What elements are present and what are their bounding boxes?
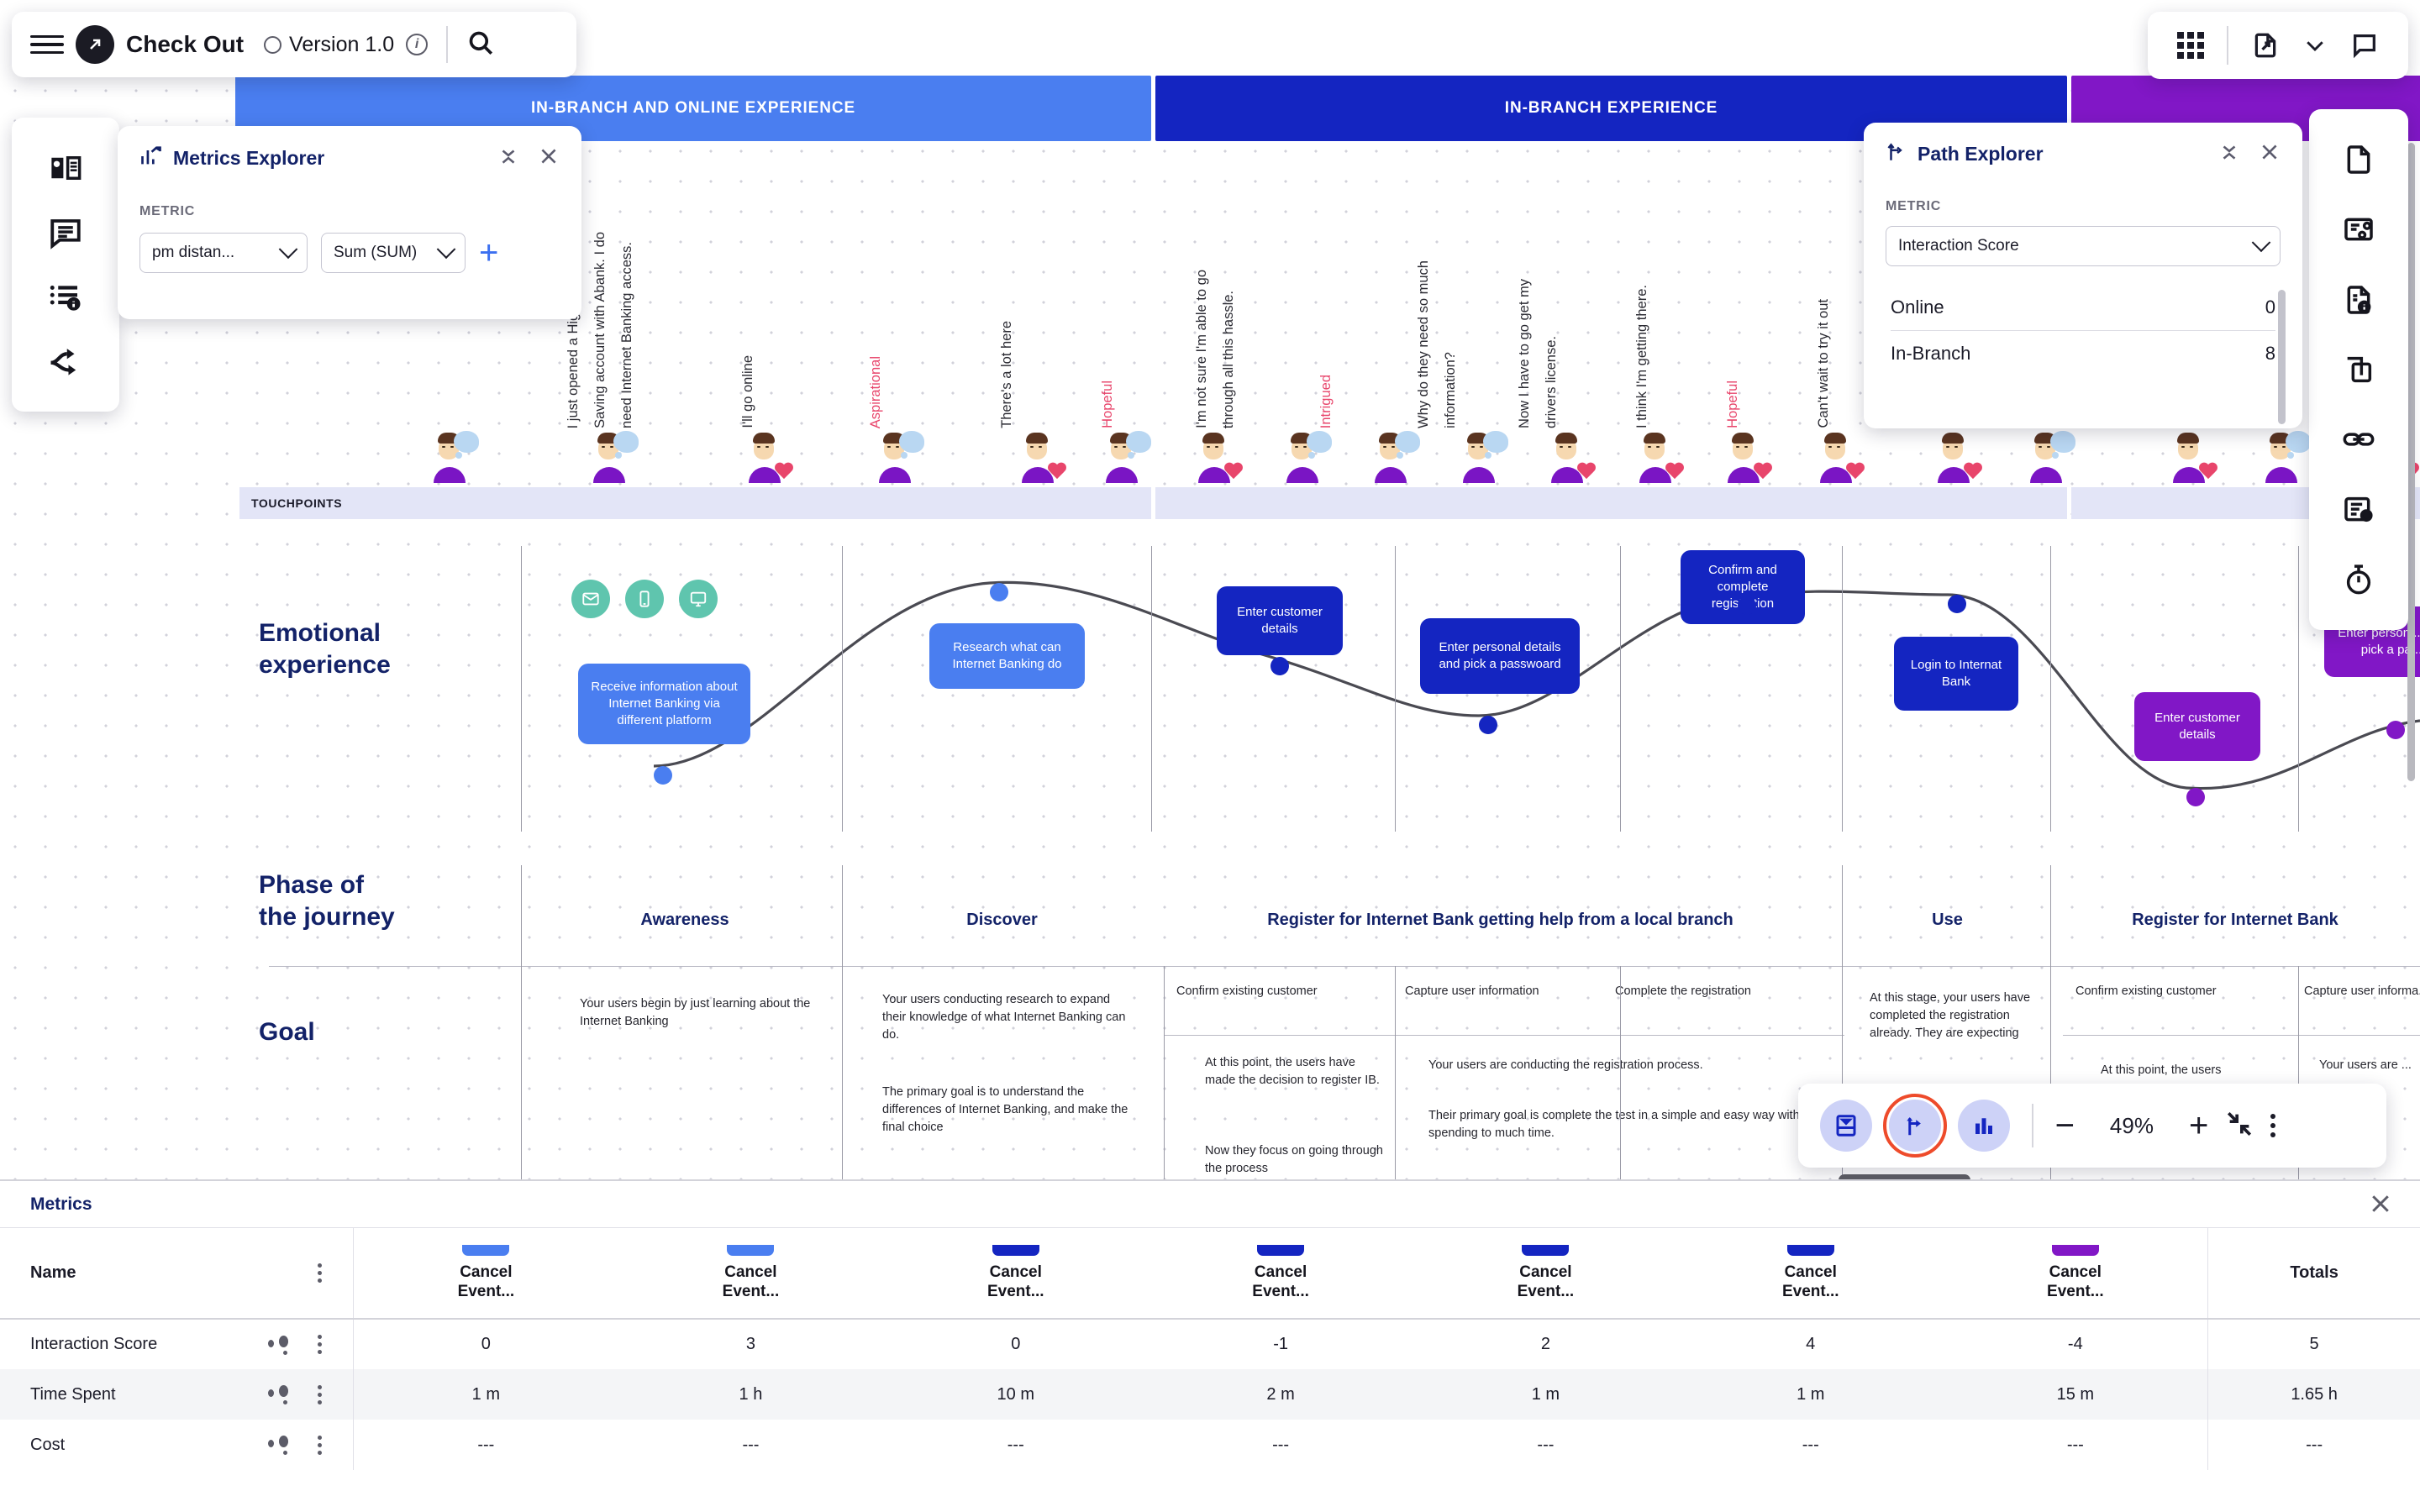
avatar-eye bbox=[2047, 446, 2050, 448]
heart-icon bbox=[1047, 463, 1067, 481]
persona-quote: Hopeful bbox=[1099, 381, 1133, 428]
table-row[interactable]: Time Spent1 m1 h10 m2 m1 m1 m15 m1.65 h bbox=[0, 1369, 2420, 1420]
right-toolbar bbox=[2309, 109, 2408, 630]
subphase-title[interactable]: Complete the registration bbox=[1615, 983, 1842, 1000]
persona-quote: I'll go online bbox=[739, 355, 773, 428]
table-row[interactable]: Cost------------------------ bbox=[0, 1420, 2420, 1470]
hamburger-icon[interactable] bbox=[30, 32, 64, 57]
persona-quote-text: Aspirational bbox=[867, 356, 885, 428]
persona-quote: information? bbox=[1442, 352, 1476, 428]
metric-value-cell[interactable]: 1 m bbox=[353, 1369, 618, 1420]
more-vertical-icon[interactable] bbox=[311, 1385, 329, 1404]
metric-total-cell: 5 bbox=[2208, 1319, 2420, 1369]
thought-bubble-icon bbox=[613, 431, 639, 453]
metric-value-cell[interactable]: --- bbox=[618, 1420, 883, 1470]
path-explorer-scrollbar[interactable] bbox=[2278, 290, 2286, 424]
touchpoints-label: TOUCHPOINTS bbox=[239, 487, 342, 519]
more-vertical-icon[interactable] bbox=[311, 1436, 329, 1455]
persona-quote-text: information? bbox=[1442, 352, 1460, 428]
persona-avatar bbox=[1193, 431, 1242, 483]
avatar-hair bbox=[2177, 433, 2199, 444]
avatar-hair bbox=[753, 433, 775, 444]
persona-quote-text: Can't wait to try it out bbox=[1815, 299, 1833, 428]
persona-avatar bbox=[429, 431, 477, 483]
thought-bubble-icon bbox=[454, 431, 479, 453]
metric-name-cell[interactable]: Cost bbox=[0, 1420, 353, 1470]
avatar-eye bbox=[1648, 446, 1651, 448]
heart-icon bbox=[1753, 463, 1773, 481]
event-color-cap bbox=[727, 1245, 774, 1256]
column-header-event[interactable]: CancelEvent... bbox=[1678, 1228, 1943, 1319]
metrics-explorer-header: Metrics Explorer bbox=[139, 144, 560, 172]
grid-divider bbox=[2050, 546, 2051, 832]
column-header-label: CancelEvent... bbox=[618, 1263, 883, 1301]
persona-quote-text: Hopeful bbox=[1099, 381, 1117, 428]
avatar-body bbox=[593, 467, 625, 483]
persona-avatar bbox=[2168, 431, 2217, 483]
zoom-out-button[interactable]: − bbox=[2055, 1111, 2075, 1140]
list-item[interactable]: In-Branch 8 bbox=[1886, 331, 2281, 376]
persona-quote-text: through all this hassle. bbox=[1220, 291, 1238, 428]
comment-lines-icon[interactable] bbox=[46, 213, 85, 252]
grid-divider bbox=[521, 865, 522, 1193]
copy-pages-icon[interactable] bbox=[2339, 350, 2378, 389]
avatar-eye bbox=[1303, 446, 1307, 448]
avatar-hair bbox=[1026, 433, 1048, 444]
subphase-divider bbox=[2063, 1035, 2420, 1036]
persona-avatar bbox=[2260, 431, 2309, 483]
path-branch-icon[interactable] bbox=[46, 342, 85, 381]
canvas-view-toolbar: − 49% + bbox=[1798, 1084, 2386, 1168]
heart-icon bbox=[774, 463, 794, 481]
goal-text[interactable]: Your users begin by just learning about … bbox=[580, 995, 823, 1031]
avatar-hair bbox=[1942, 433, 1964, 444]
touchpoints-strip-0 bbox=[239, 487, 1151, 519]
table-header-row: Name CancelEvent...CancelEvent...CancelE… bbox=[0, 1228, 2420, 1319]
emotion-step-box[interactable]: Research what can Internet Banking do bbox=[929, 623, 1085, 689]
persona-quote: There's a lot here bbox=[998, 321, 1032, 428]
emotion-curve-node[interactable] bbox=[990, 583, 1008, 601]
avatar-hair bbox=[1824, 433, 1846, 444]
metric-value-cell[interactable]: --- bbox=[1148, 1420, 1413, 1470]
path-explorer-list: Online 0 In-Branch 8 bbox=[1886, 285, 2281, 376]
avatar-eye bbox=[887, 446, 891, 448]
avatar-body bbox=[879, 467, 911, 483]
metric-name: Interaction Score bbox=[30, 1335, 157, 1354]
avatar-eye bbox=[1383, 446, 1386, 448]
chevron-down-icon[interactable] bbox=[2302, 33, 2328, 58]
phase-title[interactable]: Awareness bbox=[525, 909, 844, 931]
persona-quote-text: There's a lot here bbox=[998, 321, 1016, 428]
avatar-eye bbox=[2181, 446, 2185, 448]
metrics-bar-icon[interactable] bbox=[1958, 1100, 2010, 1152]
avatar-eye bbox=[2039, 446, 2042, 448]
chevron-down-icon bbox=[2252, 233, 2271, 252]
phase-title[interactable]: Register for Internet Bank bbox=[2054, 909, 2416, 931]
top-toolbar: Check Out Version 1.0 i bbox=[12, 12, 576, 77]
grid-divider bbox=[1842, 546, 1843, 832]
metric-value-cell[interactable]: 4 bbox=[1678, 1319, 1943, 1369]
metric-value-cell[interactable]: -4 bbox=[1943, 1319, 2207, 1369]
emotion-step-box[interactable]: Enter personal details and pick a passwo… bbox=[1420, 618, 1580, 694]
persona-quote-text: Intrigued bbox=[1318, 375, 1335, 428]
thought-bubble-icon bbox=[1307, 431, 1332, 453]
thought-bubble-icon bbox=[1483, 431, 1508, 453]
emotion-step-box[interactable]: Enter customer details bbox=[1217, 586, 1343, 655]
persona-avatar bbox=[1101, 431, 1149, 483]
goal-text[interactable]: Now they focus on going through the proc… bbox=[1205, 1142, 1386, 1178]
avatar-eye bbox=[1207, 446, 1210, 448]
lane-view-icon[interactable] bbox=[1820, 1100, 1872, 1152]
vertical-scrollbar[interactable] bbox=[2407, 143, 2415, 781]
version-selector[interactable]: Version 1.0 bbox=[264, 33, 394, 57]
persona-avatar bbox=[1546, 431, 1595, 483]
metrics-table[interactable]: Name CancelEvent...CancelEvent...CancelE… bbox=[0, 1228, 2420, 1470]
emotion-curve bbox=[0, 529, 2420, 832]
avatar-eye bbox=[1030, 446, 1034, 448]
metric-value-cell[interactable]: --- bbox=[1678, 1420, 1943, 1470]
subphase-title[interactable]: Confirm existing customer bbox=[1176, 983, 1403, 1000]
persona-quote: through all this hassle. bbox=[1220, 291, 1254, 428]
column-header-label: CancelEvent... bbox=[354, 1263, 618, 1301]
metric-value-cell[interactable]: --- bbox=[1413, 1420, 1678, 1470]
subphase-divider bbox=[1164, 1035, 1844, 1036]
stopwatch-icon[interactable] bbox=[2339, 560, 2378, 599]
table-body: Interaction Score030-124-45Time Spent1 m… bbox=[0, 1319, 2420, 1470]
link-icon[interactable] bbox=[2339, 420, 2378, 459]
avatar-eye bbox=[1828, 446, 1832, 448]
thought-bubble-icon bbox=[899, 431, 924, 453]
metrics-table-header: Metrics bbox=[0, 1181, 2420, 1228]
goal-text[interactable]: At this stage, your users have completed… bbox=[1870, 990, 2033, 1042]
avatar-eye bbox=[1946, 446, 1949, 448]
touchpoints-strip-1 bbox=[1155, 487, 2067, 519]
close-icon[interactable] bbox=[538, 145, 560, 171]
metric-value-cell[interactable]: 10 m bbox=[883, 1369, 1148, 1420]
emotion-curve-node[interactable] bbox=[1948, 595, 1966, 613]
persona-avatar bbox=[2025, 431, 2074, 483]
goal-text[interactable]: Your users are ... bbox=[2319, 1057, 2420, 1074]
persona-avatar bbox=[1281, 431, 1330, 483]
grid-divider bbox=[521, 546, 522, 832]
grid-divider bbox=[1395, 966, 1396, 1193]
path-explorer-panel[interactable]: Path Explorer METRIC Interaction Score O… bbox=[1864, 123, 2302, 428]
avatar-eye bbox=[1568, 446, 1571, 448]
page-icon[interactable] bbox=[2339, 140, 2378, 179]
avatar-eye bbox=[610, 446, 613, 448]
grid-divider bbox=[1164, 966, 1165, 1193]
avatar-eye bbox=[1560, 446, 1563, 448]
event-color-cap bbox=[462, 1245, 509, 1256]
metric-value-cell[interactable]: --- bbox=[883, 1420, 1148, 1470]
persona-quote-text: Now I have to go get my bbox=[1516, 279, 1534, 428]
column-header-event[interactable]: CancelEvent... bbox=[1413, 1228, 1678, 1319]
avatar-eye bbox=[896, 446, 899, 448]
subphase-title[interactable]: Capture user information bbox=[1405, 983, 1613, 1000]
persona-quote: I think I'm getting there. bbox=[1633, 285, 1667, 428]
list-item[interactable]: Online 0 bbox=[1886, 285, 2281, 330]
chevron-down-icon bbox=[279, 239, 298, 259]
emotion-curve-node[interactable] bbox=[1479, 716, 1497, 734]
version-label: Version 1.0 bbox=[289, 33, 394, 57]
avatar-hair bbox=[1732, 433, 1754, 444]
path-metric-select[interactable]: Interaction Score bbox=[1886, 226, 2281, 266]
emotion-curve-node[interactable] bbox=[2386, 721, 2405, 739]
phase-title[interactable]: Use bbox=[1844, 909, 2050, 931]
goal-text[interactable]: At this point, the users have made the d… bbox=[1205, 1054, 1386, 1089]
emotion-curve-node[interactable] bbox=[2186, 788, 2205, 806]
thought-bubble-icon bbox=[1395, 431, 1420, 453]
avatar-eye bbox=[1736, 446, 1739, 448]
avatar-eye bbox=[1471, 446, 1475, 448]
event-color-cap bbox=[1257, 1245, 1304, 1256]
avatar-eye bbox=[1480, 446, 1483, 448]
more-vertical-icon[interactable] bbox=[2270, 1114, 2275, 1137]
fit-to-screen-icon[interactable] bbox=[2225, 1110, 2254, 1142]
collapse-icon[interactable] bbox=[497, 145, 519, 171]
app-logo-icon[interactable] bbox=[76, 25, 114, 64]
grid-apps-icon[interactable] bbox=[2177, 32, 2204, 59]
goal-text[interactable]: Your users are conducting the registrati… bbox=[1428, 1057, 1823, 1074]
metric-total-cell: --- bbox=[2208, 1420, 2420, 1470]
comment-icon[interactable] bbox=[2350, 31, 2379, 60]
goal-text[interactable]: At this point, the users bbox=[2101, 1062, 2286, 1079]
export-document-icon[interactable] bbox=[2251, 31, 2280, 60]
emotion-curve-node[interactable] bbox=[1270, 657, 1289, 675]
grid-divider bbox=[1620, 546, 1621, 832]
metric-section-label: METRIC bbox=[139, 204, 560, 219]
heart-icon bbox=[1665, 463, 1685, 481]
metric-value-cell[interactable]: 1 h bbox=[618, 1369, 883, 1420]
persona-avatar bbox=[1723, 431, 1771, 483]
column-header-totals[interactable]: Totals bbox=[2208, 1228, 2420, 1319]
column-header-event[interactable]: CancelEvent... bbox=[1148, 1228, 1413, 1319]
avatar-eye bbox=[2190, 446, 2193, 448]
path-branch-icon bbox=[1886, 141, 1907, 167]
close-icon[interactable] bbox=[2368, 1191, 2393, 1221]
metrics-table-title: Metrics bbox=[30, 1194, 92, 1215]
emotion-step-box[interactable]: Receive information about Internet Banki… bbox=[578, 664, 750, 744]
persona-quote-text: Saving account with Abank. I do bbox=[592, 232, 609, 428]
persona-quote-text: Hopeful bbox=[1724, 381, 1742, 428]
close-icon[interactable] bbox=[2259, 141, 2281, 167]
document-info-icon[interactable] bbox=[2339, 281, 2378, 319]
subphase-title[interactable]: Confirm existing customer bbox=[2075, 983, 2302, 1000]
toolbar-divider bbox=[2227, 26, 2228, 65]
persona-avatar bbox=[744, 431, 792, 483]
metric-value-cell[interactable]: --- bbox=[1943, 1420, 2207, 1470]
avatar-eye bbox=[1391, 446, 1395, 448]
avatar-body bbox=[1463, 467, 1495, 483]
collapse-icon[interactable] bbox=[2218, 141, 2240, 167]
heart-icon bbox=[1576, 463, 1597, 481]
metric-name: Time Spent bbox=[30, 1385, 116, 1404]
metric-total-cell: 1.65 h bbox=[2208, 1369, 2420, 1420]
subphase-title[interactable]: Capture user informa... bbox=[2304, 983, 2420, 1000]
toolbar-divider bbox=[446, 26, 448, 63]
emotion-curve-node[interactable] bbox=[654, 766, 672, 785]
avatar-eye bbox=[2274, 446, 2277, 448]
persona-quote-text: I think I'm getting there. bbox=[1633, 285, 1651, 428]
metric-value-cell[interactable]: 1 m bbox=[1678, 1369, 1943, 1420]
footprints-icon[interactable] bbox=[267, 1335, 289, 1355]
grid-divider bbox=[842, 546, 843, 832]
zoom-in-button[interactable]: + bbox=[2189, 1111, 2208, 1140]
column-header-event[interactable]: CancelEvent... bbox=[883, 1228, 1148, 1319]
journey-map-icon[interactable] bbox=[2339, 210, 2378, 249]
persona-quote: drivers license. bbox=[1543, 336, 1576, 428]
footprints-icon[interactable] bbox=[267, 1435, 289, 1455]
metrics-table-panel: Metrics Name CancelEvent...CancelEvent..… bbox=[0, 1179, 2420, 1512]
goal-text[interactable]: Your users conducting research to expand… bbox=[882, 991, 1126, 1044]
persona-avatar bbox=[1458, 431, 1507, 483]
metric-name-cell[interactable]: Interaction Score bbox=[0, 1319, 353, 1369]
persona-avatar bbox=[588, 431, 637, 483]
persona-avatar bbox=[874, 431, 923, 483]
grid-divider bbox=[1620, 966, 1621, 1193]
document-title[interactable]: Check Out bbox=[126, 31, 244, 58]
avatar-hair bbox=[1202, 433, 1224, 444]
column-header-event[interactable]: CancelEvent... bbox=[1943, 1228, 2207, 1319]
persona-quote: Can't wait to try it out bbox=[1815, 299, 1849, 428]
column-header-label: CancelEvent... bbox=[1678, 1263, 1943, 1301]
emotion-step-box[interactable]: Login to Internat Bank bbox=[1894, 637, 2018, 711]
column-header-event[interactable]: CancelEvent... bbox=[618, 1228, 883, 1319]
avatar-eye bbox=[1039, 446, 1042, 448]
emotion-step-box[interactable]: Enter customer details bbox=[2134, 692, 2260, 761]
metric-select[interactable]: pm distan... bbox=[139, 233, 308, 273]
top-right-toolbar bbox=[2148, 12, 2408, 79]
metric-name: Cost bbox=[30, 1436, 65, 1455]
avatar-eye bbox=[1123, 446, 1126, 448]
persona-book-icon[interactable] bbox=[46, 149, 85, 187]
heart-icon bbox=[1845, 463, 1865, 481]
persona-quote-text: need Internet Banking access. bbox=[618, 242, 636, 428]
phase-label: Phase of the journey bbox=[259, 869, 494, 933]
metric-value-cell[interactable]: 2 m bbox=[1148, 1369, 1413, 1420]
avatar-eye bbox=[2282, 446, 2286, 448]
event-color-cap bbox=[1787, 1245, 1834, 1256]
subphase-divider bbox=[1164, 966, 1844, 967]
grid-divider bbox=[2298, 546, 2299, 832]
avatar-eye bbox=[602, 446, 605, 448]
add-metric-button[interactable]: + bbox=[479, 240, 498, 265]
more-vertical-icon[interactable] bbox=[311, 1335, 329, 1354]
info-icon[interactable]: i bbox=[406, 34, 428, 55]
left-toolbar bbox=[12, 118, 119, 412]
metric-value-cell[interactable]: 3 bbox=[618, 1319, 883, 1369]
persona-avatar bbox=[1370, 431, 1418, 483]
phase-title[interactable]: Discover bbox=[849, 909, 1155, 931]
avatar-eye bbox=[1744, 446, 1748, 448]
metric-value-cell[interactable]: 0 bbox=[353, 1319, 618, 1369]
persona-quote-text: Why do they need so much bbox=[1415, 260, 1433, 428]
metric-value-cell[interactable]: 0 bbox=[883, 1319, 1148, 1369]
more-vertical-icon[interactable] bbox=[311, 1263, 329, 1283]
version-status-icon bbox=[264, 36, 281, 54]
table-row[interactable]: Interaction Score030-124-45 bbox=[0, 1319, 2420, 1369]
column-header-label: CancelEvent... bbox=[1943, 1263, 2207, 1301]
avatar-eye bbox=[1656, 446, 1660, 448]
goal-text[interactable]: The primary goal is to understand the di… bbox=[882, 1084, 1134, 1137]
emotion-curve-node[interactable] bbox=[1738, 596, 1756, 615]
avatar-body bbox=[1286, 467, 1318, 483]
persona-quote-text: I'll go online bbox=[739, 355, 757, 428]
phase-title[interactable]: Register for Internet Bank getting help … bbox=[1158, 909, 1843, 931]
avatar-body bbox=[2030, 467, 2062, 483]
avatar-body bbox=[2265, 467, 2297, 483]
grid-divider bbox=[1151, 546, 1152, 832]
heart-icon bbox=[1223, 463, 1244, 481]
persona-quote: need Internet Banking access. bbox=[618, 242, 652, 428]
metric-name-cell[interactable]: Time Spent bbox=[0, 1369, 353, 1420]
column-header-label: CancelEvent... bbox=[1413, 1263, 1678, 1301]
grid-divider bbox=[1395, 546, 1396, 832]
column-header-name[interactable]: Name bbox=[0, 1228, 353, 1319]
metric-value-cell[interactable]: 15 m bbox=[1943, 1369, 2207, 1420]
column-header-event[interactable]: CancelEvent... bbox=[353, 1228, 618, 1319]
avatar-eye bbox=[1114, 446, 1118, 448]
persona-avatar bbox=[1634, 431, 1683, 483]
metrics-chart-icon bbox=[139, 144, 163, 172]
avatar-eye bbox=[757, 446, 760, 448]
avatar-eye bbox=[1954, 446, 1958, 448]
persona-quote-text: drivers license. bbox=[1543, 336, 1560, 428]
persona-quote: Aspirational bbox=[867, 356, 901, 428]
chevron-down-icon bbox=[437, 239, 456, 259]
avatar-hair bbox=[1555, 433, 1577, 444]
heart-icon bbox=[2198, 463, 2218, 481]
column-header-label: CancelEvent... bbox=[883, 1263, 1148, 1301]
event-color-cap bbox=[992, 1245, 1039, 1256]
avatar-eye bbox=[765, 446, 769, 448]
path-metric-label: METRIC bbox=[1886, 199, 2281, 214]
event-color-cap bbox=[2052, 1245, 2099, 1256]
avatar-hair bbox=[1644, 433, 1665, 444]
zoom-level-value[interactable]: 49% bbox=[2091, 1113, 2172, 1139]
goal-label: Goal bbox=[259, 1016, 315, 1048]
metrics-explorer-title: Metrics Explorer bbox=[173, 147, 487, 170]
persona-avatar bbox=[1017, 431, 1065, 483]
footprints-icon[interactable] bbox=[267, 1384, 289, 1404]
column-header-label: CancelEvent... bbox=[1148, 1263, 1413, 1301]
grid-divider bbox=[842, 865, 843, 1193]
persona-avatar bbox=[1815, 431, 1864, 483]
metric-value-cell[interactable]: -1 bbox=[1148, 1319, 1413, 1369]
persona-quote: Hopeful bbox=[1724, 381, 1758, 428]
avatar-body bbox=[1106, 467, 1138, 483]
metric-value-cell[interactable]: --- bbox=[353, 1420, 618, 1470]
goal-text[interactable]: Their primary goal is complete the test … bbox=[1428, 1107, 1823, 1142]
metric-value-cell[interactable]: 1 m bbox=[1413, 1369, 1678, 1420]
avatar-eye bbox=[1215, 446, 1218, 448]
path-explorer-title: Path Explorer bbox=[1918, 143, 2208, 165]
aggregation-select[interactable]: Sum (SUM) bbox=[321, 233, 466, 273]
search-icon[interactable] bbox=[466, 29, 495, 61]
avatar-body bbox=[434, 467, 466, 483]
list-info-icon[interactable] bbox=[46, 277, 85, 316]
metrics-explorer-panel[interactable]: Metrics Explorer METRIC pm distan... Sum… bbox=[118, 126, 581, 319]
heart-icon bbox=[1963, 463, 1983, 481]
metric-value-cell[interactable]: 2 bbox=[1413, 1319, 1678, 1369]
thought-bubble-icon bbox=[2050, 431, 2075, 453]
avatar-body bbox=[1375, 467, 1407, 483]
persona-avatar bbox=[1933, 431, 1981, 483]
persona-avatar-band bbox=[235, 424, 2420, 483]
path-explorer-icon[interactable] bbox=[1889, 1100, 1941, 1152]
thought-bubble-icon bbox=[1126, 431, 1151, 453]
document-settings-icon[interactable] bbox=[2339, 491, 2378, 529]
